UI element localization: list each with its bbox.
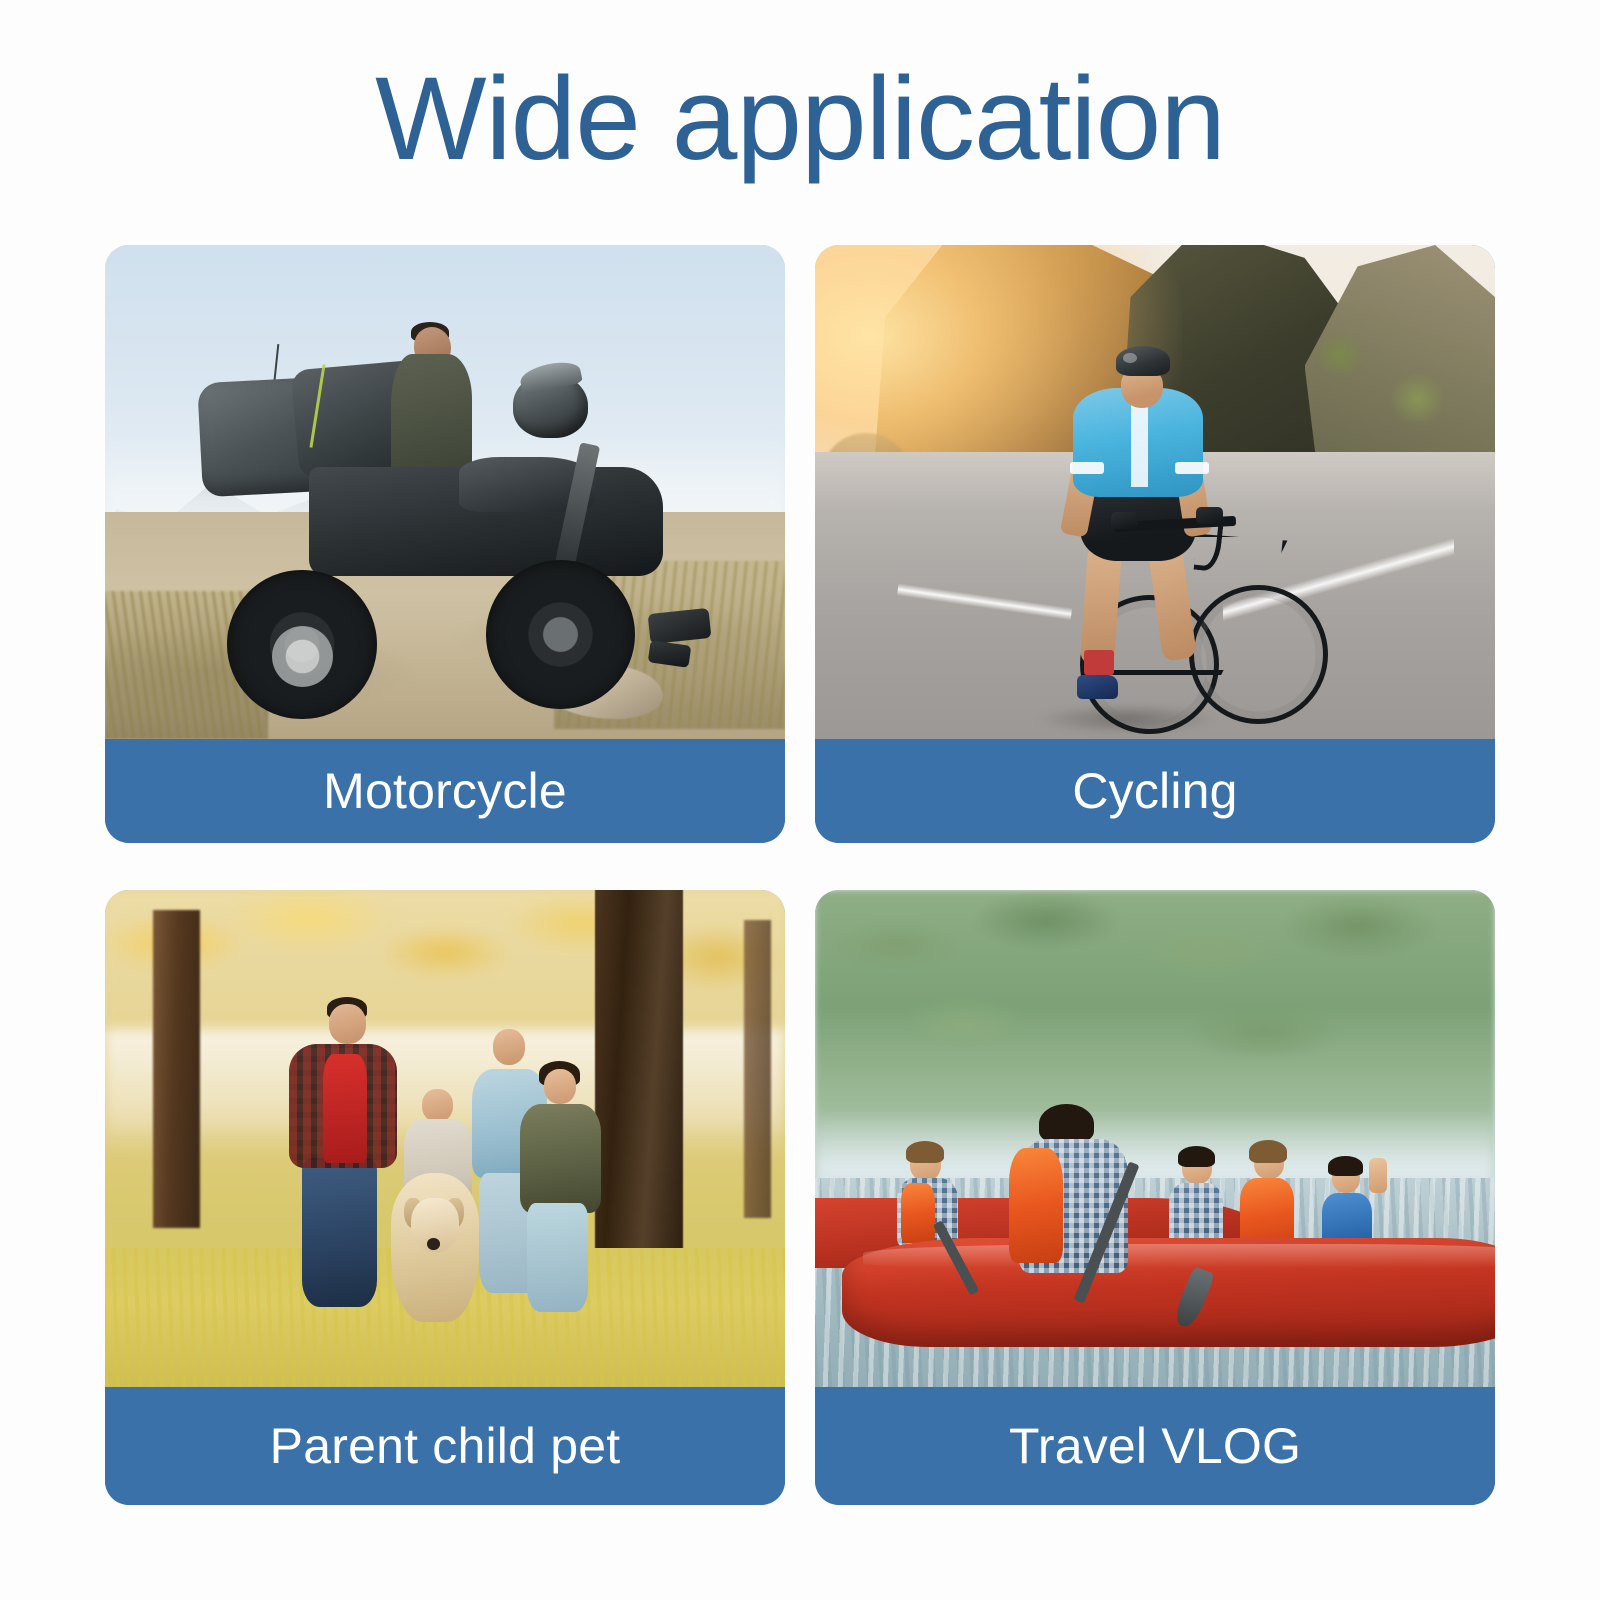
jersey-cuff-right (1175, 462, 1209, 474)
front-wheel (486, 560, 636, 710)
girl-head (422, 1089, 453, 1122)
cycling-photo (815, 245, 1495, 739)
paddler-1-vest (901, 1183, 935, 1243)
cyclist-shoe (1077, 675, 1118, 700)
tree-trunk-far-right (744, 920, 771, 1218)
father-red-tee (323, 1054, 368, 1163)
card-caption-parent-child-pet: Parent child pet (105, 1387, 785, 1505)
application-card-travel-vlog[interactable]: Travel VLOG (815, 890, 1495, 1505)
cyclist-sock (1084, 650, 1114, 675)
front-paddler-hair (1039, 1104, 1093, 1144)
glove-left (1111, 512, 1138, 529)
cycling-helmet (1116, 346, 1170, 376)
card-caption-cycling: Cycling (815, 739, 1495, 843)
page-title: Wide application (0, 58, 1600, 182)
camera-bag (648, 607, 712, 643)
application-card-parent-child-pet[interactable]: Parent child pet (105, 890, 785, 1505)
boy-head (544, 1069, 577, 1104)
application-card-motorcycle[interactable]: Motorcycle (105, 245, 785, 843)
application-card-cycling[interactable]: Cycling (815, 245, 1495, 843)
canoe-photo (815, 890, 1495, 1387)
glove-right (1196, 507, 1223, 524)
wide-application-poster: Wide application (0, 0, 1600, 1600)
paddler-5-hair (1328, 1156, 1363, 1176)
paddler-1-hair (906, 1141, 944, 1163)
card-caption-travel-vlog: Travel VLOG (815, 1387, 1495, 1505)
dog-nose (427, 1238, 441, 1250)
card-caption-motorcycle: Motorcycle (105, 739, 785, 843)
paddler-4-hair (1249, 1140, 1287, 1163)
paddler-3-hair (1178, 1146, 1215, 1167)
boy-pants (527, 1203, 588, 1312)
boy-jacket (520, 1104, 602, 1213)
tree-trunk-right (595, 890, 683, 1307)
mother-head (493, 1029, 526, 1065)
father-head (329, 1004, 366, 1044)
canoe-front-hull (842, 1238, 1495, 1347)
front-paddler-vest (1009, 1148, 1063, 1262)
paddler-5-raised-arm (1369, 1158, 1387, 1193)
father-jeans (302, 1158, 377, 1307)
family-photo (105, 890, 785, 1387)
motorcycle-photo (105, 245, 785, 739)
application-card-grid: Motorcycle (105, 245, 1495, 1505)
brake-disc (272, 626, 333, 687)
tree-trunk-left (153, 910, 201, 1228)
jersey-cuff-left (1070, 462, 1104, 474)
